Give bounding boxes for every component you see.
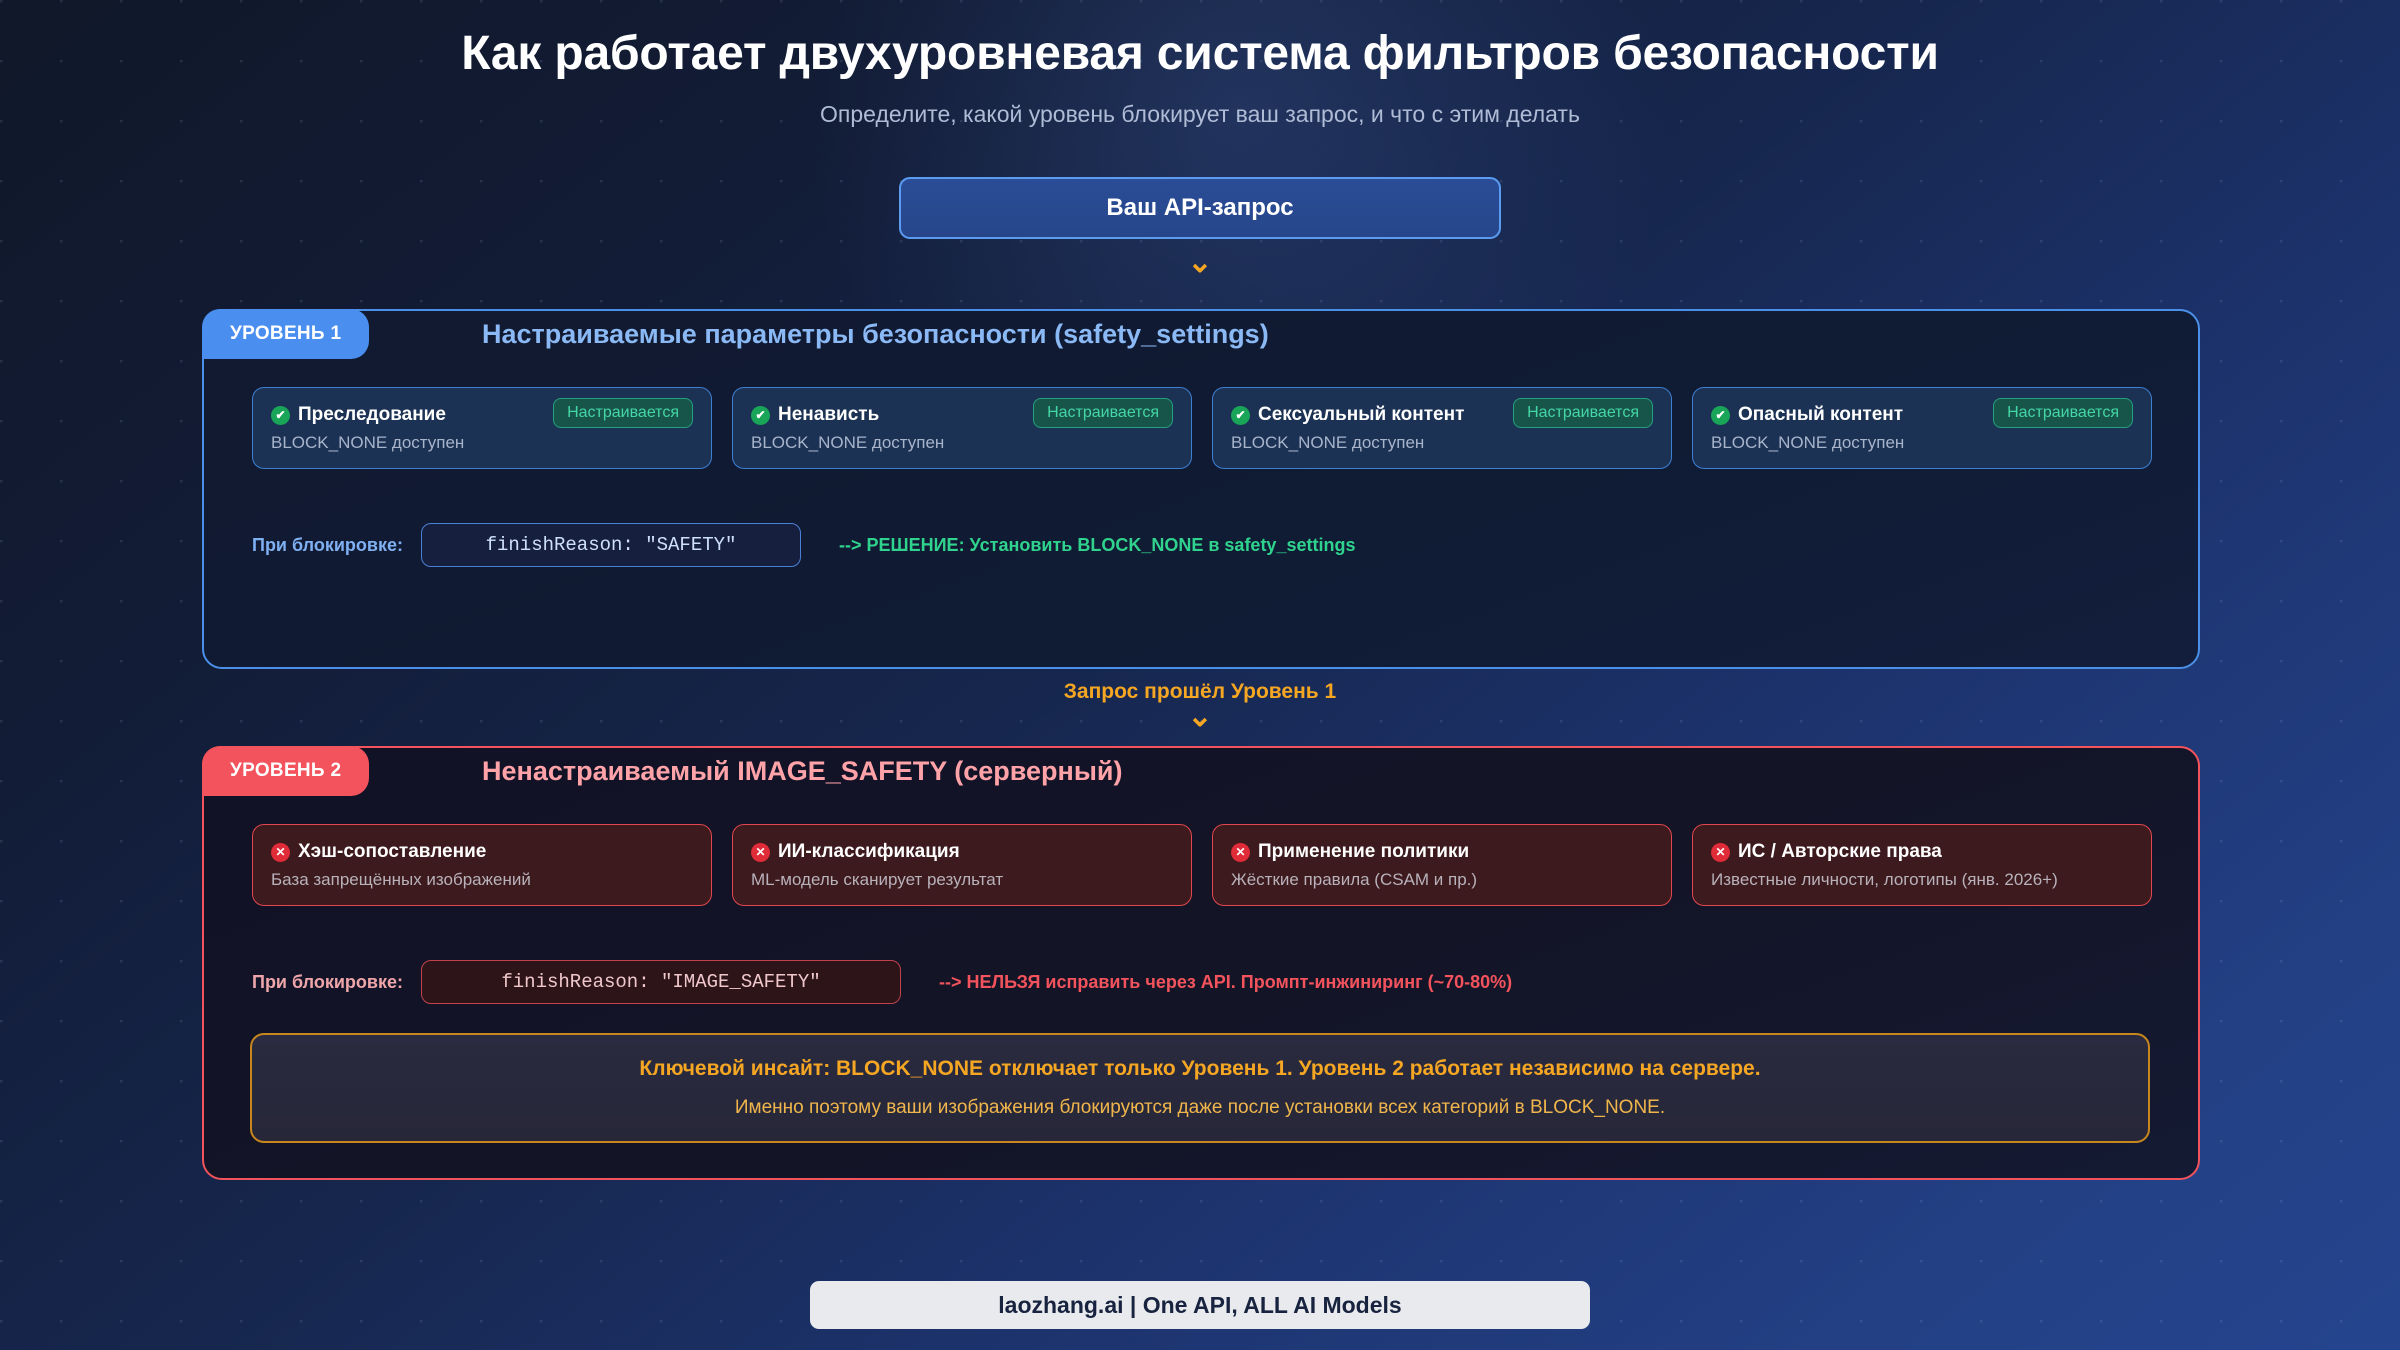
block-label: При блокировке: (252, 972, 403, 993)
configurable-badge: Настраивается (1033, 398, 1173, 428)
level1-card-list: ✔ Преследование Настраивается BLOCK_NONE… (252, 387, 2152, 469)
configurable-badge: Настраивается (1993, 398, 2133, 428)
card-title: Сексуальный контент (1258, 404, 1464, 426)
key-insight-callout: Ключевой инсайт: BLOCK_NONE отключает то… (250, 1033, 2150, 1143)
level2-block-row: При блокировке: finishReason: "IMAGE_SAF… (252, 960, 1512, 1004)
check-circle-icon: ✔ (751, 406, 770, 425)
level2-warning-note: --> НЕЛЬЗЯ исправить через API. Промпт-и… (939, 972, 1512, 993)
level1-card[interactable]: ✔ Ненависть Настраивается BLOCK_NONE дос… (732, 387, 1192, 469)
x-circle-icon: ✕ (1231, 843, 1250, 862)
card-header: ✔ Сексуальный контент Настраивается (1231, 404, 1653, 426)
api-request-label: Ваш API-запрос (1106, 194, 1293, 222)
key-insight-line-2: Именно поэтому ваши изображения блокирую… (735, 1097, 1665, 1119)
x-circle-icon: ✕ (271, 843, 290, 862)
level1-card[interactable]: ✔ Преследование Настраивается BLOCK_NONE… (252, 387, 712, 469)
card-header: ✕ ИИ-классификация (751, 841, 1173, 863)
card-subtitle: Жёсткие правила (CSAM и пр.) (1231, 870, 1653, 890)
card-title: Ненависть (778, 404, 879, 426)
check-circle-icon: ✔ (271, 406, 290, 425)
card-subtitle: BLOCK_NONE доступен (1711, 433, 2133, 453)
card-title: ИС / Авторские права (1738, 841, 1942, 863)
block-label: При блокировке: (252, 535, 403, 556)
level2-card[interactable]: ✕ ИС / Авторские права Известные личност… (1692, 824, 2152, 906)
card-subtitle: BLOCK_NONE доступен (751, 433, 1173, 453)
finish-reason-code: finishReason: "SAFETY" (421, 523, 801, 567)
flow-arrow-to-level2-icon: ⌄ (0, 702, 2400, 732)
level2-card[interactable]: ✕ Применение политики Жёсткие правила (C… (1212, 824, 1672, 906)
level1-card[interactable]: ✔ Опасный контент Настраивается BLOCK_NO… (1692, 387, 2152, 469)
level-transition: Запрос прошёл Уровень 1 ⌄ (0, 680, 2400, 732)
check-circle-icon: ✔ (1231, 406, 1250, 425)
finish-reason-code: finishReason: "IMAGE_SAFETY" (421, 960, 901, 1004)
card-subtitle: BLOCK_NONE доступен (1231, 433, 1653, 453)
card-title: Опасный контент (1738, 404, 1903, 426)
brand-label: laozhang.ai | One API, ALL AI Models (998, 1292, 1401, 1319)
card-subtitle: BLOCK_NONE доступен (271, 433, 693, 453)
card-header: ✔ Ненависть Настраивается (751, 404, 1173, 426)
level2-badge: УРОВЕНЬ 2 (202, 746, 369, 796)
level2-card-list: ✕ Хэш-сопоставление База запрещённых изо… (252, 824, 2152, 906)
card-subtitle: ML-модель сканирует результат (751, 870, 1173, 890)
card-header: ✔ Преследование Настраивается (271, 404, 693, 426)
card-title: ИИ-классификация (778, 841, 960, 863)
level1-badge: УРОВЕНЬ 1 (202, 309, 369, 359)
configurable-badge: Настраивается (553, 398, 693, 428)
flow-arrow-to-level1-icon: ⌄ (0, 248, 2400, 278)
card-header: ✕ Хэш-сопоставление (271, 841, 693, 863)
level2-card[interactable]: ✕ ИИ-классификация ML-модель сканирует р… (732, 824, 1192, 906)
level2-heading: Ненастраиваемый IMAGE_SAFETY (серверный) (482, 746, 1123, 796)
level1-panel: УРОВЕНЬ 1 Настраиваемые параметры безопа… (202, 309, 2200, 669)
card-title: Хэш-сопоставление (298, 841, 486, 863)
x-circle-icon: ✕ (1711, 843, 1730, 862)
level1-solution-note: --> РЕШЕНИЕ: Установить BLOCK_NONE в saf… (839, 535, 1355, 556)
card-subtitle: База запрещённых изображений (271, 870, 693, 890)
card-header: ✕ Применение политики (1231, 841, 1653, 863)
card-header: ✕ ИС / Авторские права (1711, 841, 2133, 863)
level1-card[interactable]: ✔ Сексуальный контент Настраивается BLOC… (1212, 387, 1672, 469)
configurable-badge: Настраивается (1513, 398, 1653, 428)
level2-card[interactable]: ✕ Хэш-сопоставление База запрещённых изо… (252, 824, 712, 906)
level1-block-row: При блокировке: finishReason: "SAFETY" -… (252, 523, 1355, 567)
api-request-box: Ваш API-запрос (899, 177, 1501, 239)
card-title: Применение политики (1258, 841, 1469, 863)
key-insight-line-1: Ключевой инсайт: BLOCK_NONE отключает то… (639, 1057, 1760, 1081)
card-title: Преследование (298, 404, 446, 426)
card-subtitle: Известные личности, логотипы (янв. 2026+… (1711, 870, 2133, 890)
page-title: Как работает двухуровневая система фильт… (0, 26, 2400, 81)
card-header: ✔ Опасный контент Настраивается (1711, 404, 2133, 426)
level1-heading: Настраиваемые параметры безопасности (sa… (482, 309, 1269, 359)
x-circle-icon: ✕ (751, 843, 770, 862)
brand-footer: laozhang.ai | One API, ALL AI Models (810, 1281, 1590, 1329)
page-subtitle: Определите, какой уровень блокирует ваш … (0, 101, 2400, 128)
infographic-canvas: Как работает двухуровневая система фильт… (0, 0, 2400, 1350)
check-circle-icon: ✔ (1711, 406, 1730, 425)
